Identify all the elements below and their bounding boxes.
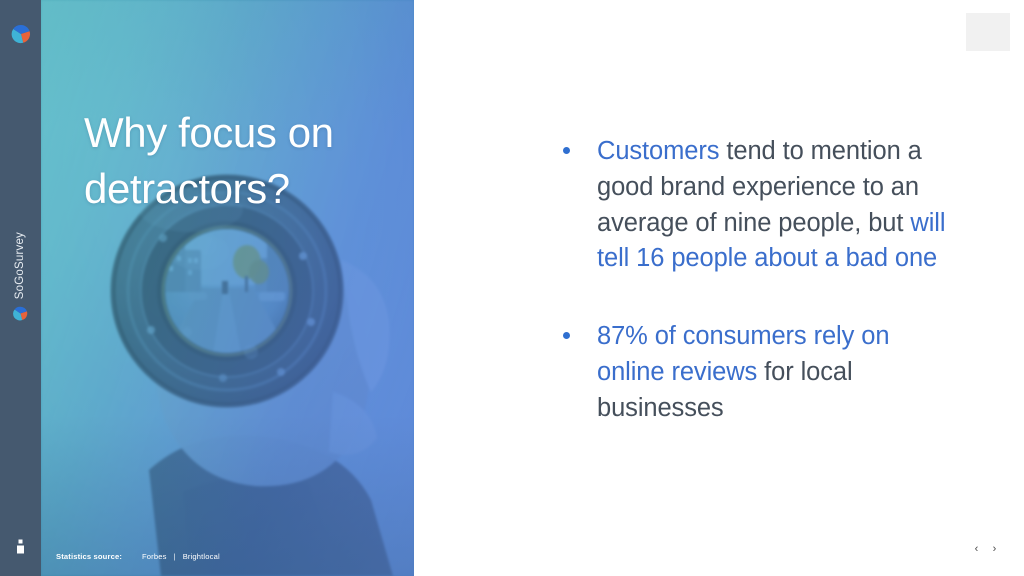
info-person-icon[interactable] [14, 539, 27, 556]
sogosurvey-pie-logo-icon[interactable] [11, 24, 31, 44]
slide-viewer: SoGoSurvey [0, 0, 1024, 576]
source-label: Statistics source: [56, 552, 122, 561]
bullet-list: Customers tend to mention a good brand e… [553, 134, 953, 427]
app-rail: SoGoSurvey [0, 0, 41, 576]
sogosurvey-pie-mark-icon [13, 306, 28, 321]
top-right-placeholder-box[interactable] [966, 13, 1010, 51]
hero-visual: Why focus on detractors? Statistics sour… [41, 0, 414, 576]
bullet-dot-icon [563, 147, 570, 154]
source-link-brightlocal[interactable]: Brightlocal [183, 552, 220, 561]
bullet-dot-icon [563, 332, 570, 339]
source-link-forbes[interactable]: Forbes [142, 552, 167, 561]
slide-canvas: Why focus on detractors? Statistics sour… [41, 0, 1024, 576]
list-item: 87% of consumers rely on online reviews … [553, 319, 953, 426]
slide-title: Why focus on detractors? [84, 105, 394, 217]
brand-name: SoGoSurvey [15, 232, 27, 299]
slide-content: Customers tend to mention a good brand e… [414, 0, 1024, 576]
brand-vertical: SoGoSurvey [0, 232, 41, 342]
previous-slide-icon[interactable]: ‹ [972, 543, 981, 556]
next-slide-icon[interactable]: › [990, 543, 999, 556]
hero-vignette [41, 0, 414, 576]
bullet-1-segment-1: Customers [597, 137, 719, 165]
slide-navigation: ‹ › [972, 543, 999, 556]
source-separator: | [174, 552, 176, 561]
list-item: Customers tend to mention a good brand e… [553, 134, 953, 277]
statistics-source: Statistics source: Forbes | Brightlocal [56, 552, 220, 561]
